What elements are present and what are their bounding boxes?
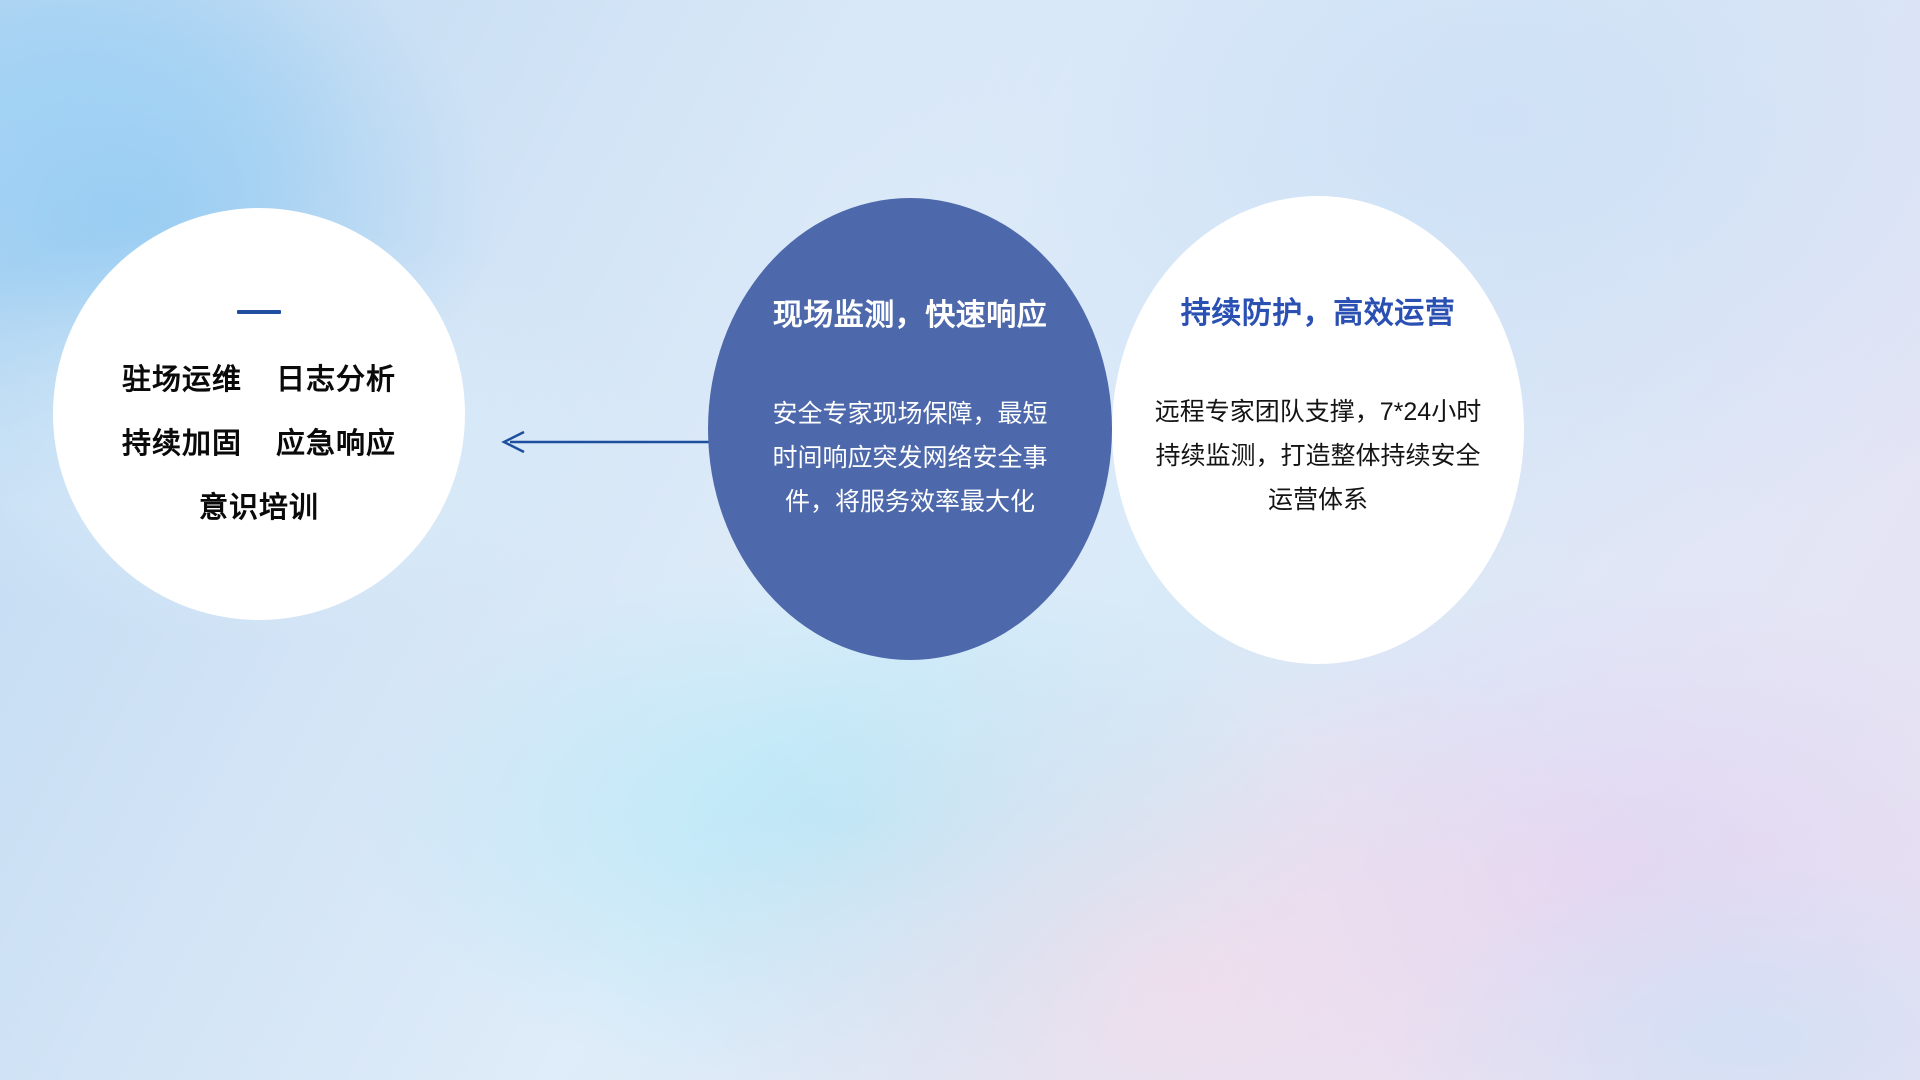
capability-item: 日志分析 bbox=[276, 356, 396, 398]
capability-item: 意识培训 bbox=[199, 484, 319, 526]
middle-circle-body: 安全专家现场保障，最短时间响应突发网络安全事件，将服务效率最大化 bbox=[762, 392, 1058, 524]
left-capability-circle[interactable]: 驻场运维 日志分析 持续加固 应急响应 意识培训 bbox=[53, 208, 465, 620]
capability-item: 应急响应 bbox=[276, 420, 396, 462]
middle-service-circle[interactable]: 现场监测，快速响应 安全专家现场保障，最短时间响应突发网络安全事件，将服务效率最… bbox=[708, 198, 1112, 660]
capability-item: 驻场运维 bbox=[122, 356, 242, 398]
right-service-circle[interactable]: 持续防护，高效运营 远程专家团队支撑，7*24小时持续监测，打造整体持续安全运营… bbox=[1112, 196, 1524, 664]
capability-row-2: 持续加固 应急响应 bbox=[122, 420, 396, 462]
divider-dash-icon bbox=[237, 310, 281, 314]
middle-circle-title: 现场监测，快速响应 bbox=[773, 290, 1048, 334]
left-capability-list: 驻场运维 日志分析 持续加固 应急响应 意识培训 bbox=[122, 356, 396, 526]
right-circle-title: 持续防护，高效运营 bbox=[1181, 288, 1456, 332]
capability-item: 持续加固 bbox=[122, 420, 242, 462]
capability-row-1: 驻场运维 日志分析 bbox=[122, 356, 396, 398]
right-circle-body: 远程专家团队支撑，7*24小时持续监测，打造整体持续安全运营体系 bbox=[1148, 390, 1488, 522]
capability-row-3: 意识培训 bbox=[199, 484, 319, 526]
